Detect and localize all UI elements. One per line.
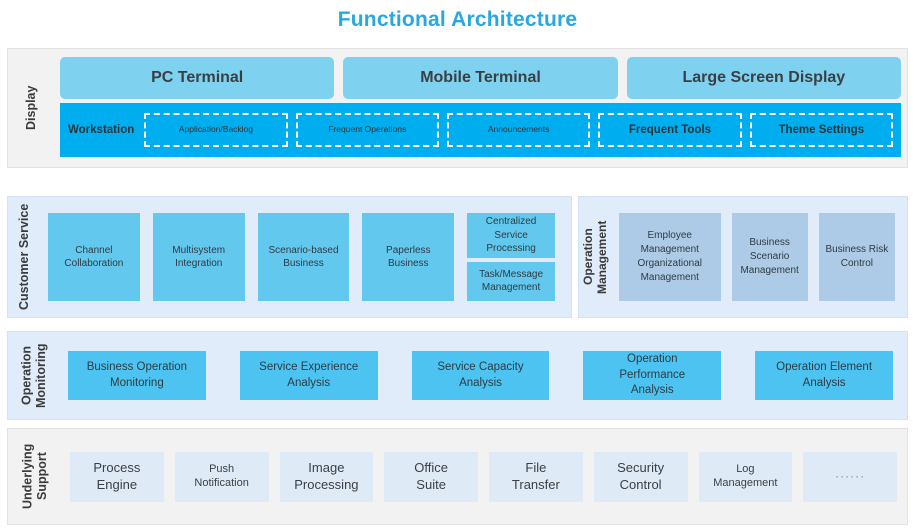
operation-management-layer: Operation Management Employee Management… [578, 196, 908, 318]
workstation-item-frequent-tools[interactable]: Frequent Tools [598, 113, 741, 147]
cs-stacked-group: Centralized Service Processing Task/Mess… [467, 213, 555, 301]
workstation-row: Workstation Application/Backlog Frequent… [60, 103, 901, 157]
us-box-push-notification[interactable]: Push Notification [175, 452, 269, 502]
operation-management-content: Employee Management Organizational Manag… [613, 197, 907, 317]
customer-service-layer-label: Customer Service [8, 197, 40, 317]
operation-monitoring-content: Business Operation Monitoring Service Ex… [60, 332, 907, 419]
us-box-log-management[interactable]: Log Management [699, 452, 793, 502]
underlying-support-layer: Underlying Support Process Engine Push N… [7, 428, 908, 525]
workstation-item-frequent-operations[interactable]: Frequent Operations [296, 113, 439, 147]
operation-monitoring-layer-label: Operation Monitoring [8, 332, 60, 419]
customer-service-layer: Customer Service Channel Collaboration M… [7, 196, 572, 318]
om-box-business-scenario-management[interactable]: Business Scenario Management [732, 213, 808, 301]
cs-box-paperless-business[interactable]: Paperless Business [362, 213, 454, 301]
workstation-item-application-backlog[interactable]: Application/Backlog [144, 113, 287, 147]
mon-box-business-operation-monitoring[interactable]: Business Operation Monitoring [68, 351, 206, 400]
mon-box-operation-element-analysis[interactable]: Operation Element Analysis [755, 351, 893, 400]
operation-management-layer-label: Operation Management [579, 197, 613, 317]
display-layer: Display PC Terminal Mobile Terminal Larg… [7, 48, 908, 168]
cs-box-task-message-management[interactable]: Task/Message Management [467, 262, 555, 302]
workstation-item-announcements[interactable]: Announcements [447, 113, 590, 147]
terminal-row: PC Terminal Mobile Terminal Large Screen… [60, 57, 901, 99]
cs-box-scenario-based-business[interactable]: Scenario-based Business [258, 213, 350, 301]
us-box-ellipsis: ······ [803, 452, 897, 502]
cs-box-channel-collaboration[interactable]: Channel Collaboration [48, 213, 140, 301]
mon-box-service-experience-analysis[interactable]: Service Experience Analysis [240, 351, 378, 400]
page-title: Functional Architecture [0, 8, 915, 32]
us-box-office-suite[interactable]: Office Suite [384, 452, 478, 502]
operation-monitoring-layer: Operation Monitoring Business Operation … [7, 331, 908, 420]
workstation-item-theme-settings[interactable]: Theme Settings [750, 113, 893, 147]
us-box-file-transfer[interactable]: File Transfer [489, 452, 583, 502]
mon-box-operation-performance-analysis[interactable]: Operation Performance Analysis [583, 351, 721, 400]
mon-box-service-capacity-analysis[interactable]: Service Capacity Analysis [412, 351, 550, 400]
underlying-support-layer-label: Underlying Support [8, 429, 62, 524]
us-box-process-engine[interactable]: Process Engine [70, 452, 164, 502]
us-box-security-control[interactable]: Security Control [594, 452, 688, 502]
om-box-employee-management[interactable]: Employee Management Organizational Manag… [619, 213, 721, 301]
terminal-box-large-screen[interactable]: Large Screen Display [627, 57, 901, 99]
terminal-box-pc[interactable]: PC Terminal [60, 57, 334, 99]
cs-box-centralized-service-processing[interactable]: Centralized Service Processing [467, 213, 555, 258]
us-box-image-processing[interactable]: Image Processing [280, 452, 374, 502]
display-layer-label: Display [8, 49, 54, 167]
terminal-box-mobile[interactable]: Mobile Terminal [343, 57, 617, 99]
om-box-business-risk-control[interactable]: Business Risk Control [819, 213, 895, 301]
customer-service-content: Channel Collaboration Multisystem Integr… [40, 197, 571, 317]
cs-box-multisystem-integration[interactable]: Multisystem Integration [153, 213, 245, 301]
display-layer-content: PC Terminal Mobile Terminal Large Screen… [54, 49, 907, 167]
workstation-label: Workstation [68, 124, 136, 136]
underlying-support-content: Process Engine Push Notification Image P… [62, 429, 907, 524]
functional-architecture-diagram: Functional Architecture Display PC Termi… [0, 0, 915, 532]
